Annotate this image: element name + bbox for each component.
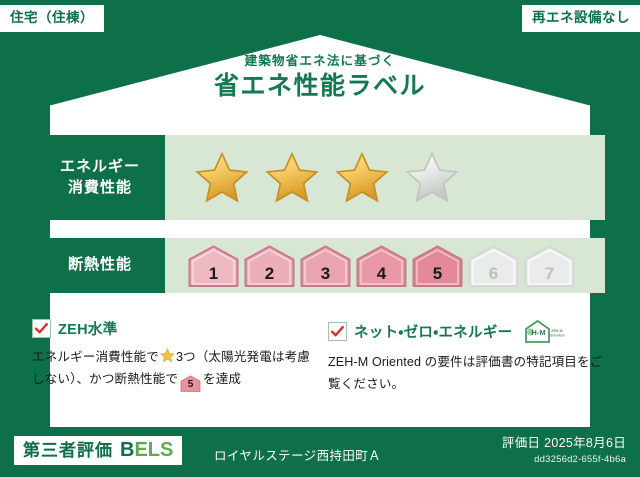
note-zeh-standard: ZEH水準 エネルギー消費性能で3つ（太陽光発電は考慮しない）、かつ断熱性能で5…: [32, 318, 312, 395]
row-insulation-performance: 断熱性能 1234567: [35, 238, 605, 293]
row-insulation-label-line1: 断熱性能: [68, 255, 132, 275]
evaluation-info: 評価日 2025年8月6日 dd3256d2-655f-4b6a: [502, 436, 626, 465]
insulation-grade-inactive: 6: [467, 244, 520, 288]
grade-number: 4: [377, 265, 386, 288]
grade-number: 5: [433, 265, 442, 288]
evaluation-date: 評価日 2025年8月6日: [502, 436, 626, 451]
insulation-grade-active: 1: [187, 244, 240, 288]
insulation-grade-active: 3: [299, 244, 352, 288]
star-empty-icon: [403, 150, 461, 206]
bels-badge-en: BELS: [120, 440, 173, 460]
svg-text:Oriented: Oriented: [550, 334, 565, 338]
inline-grade-chip: 5: [180, 375, 201, 392]
row-energy-label-line2: 消費性能: [68, 178, 132, 198]
inline-star-icon: [160, 348, 175, 363]
insulation-grade-scale: 1234567: [187, 244, 576, 288]
svg-text:ZEH-M: ZEH-M: [552, 329, 563, 333]
bels-badge-en-els: ELS: [134, 439, 173, 461]
star-filled-icon: [333, 150, 391, 206]
row-energy-label-line1: エネルギー: [60, 157, 140, 177]
note-net-zero-energy: ネット・ゼロ・エネルギー H-M ZEH-M Oriented ZEH-M Or…: [328, 318, 608, 395]
tag-renewable-equipment: 再エネ設備なし: [522, 5, 640, 32]
grade-number: 2: [265, 265, 274, 288]
star-rating: [193, 150, 461, 206]
grade-number: 1: [209, 265, 218, 288]
inline-grade-chip-value: 5: [180, 375, 201, 395]
label-title-block: 建築物省エネ法に基づく 省エネ性能ラベル: [0, 55, 640, 99]
checkbox-zeh-standard: [32, 319, 51, 338]
note-nze-body: ZEH-M Oriented の要件は評価書の特記項目をご覧ください。: [328, 351, 608, 395]
notes-section: ZEH水準 エネルギー消費性能で3つ（太陽光発電は考慮しない）、かつ断熱性能で5…: [32, 318, 608, 395]
star-filled-icon: [193, 150, 251, 206]
star-filled-icon: [263, 150, 321, 206]
note-zeh-header: ZEH水準: [32, 318, 312, 339]
note-zeh-body-part2: 3つ（太陽光発電: [176, 350, 272, 364]
insulation-grade-active: 5: [411, 244, 464, 288]
building-name: ロイヤルステージ西持田町Ａ: [214, 445, 381, 464]
row-energy-label: エネルギー 消費性能: [35, 135, 165, 220]
grade-number: 7: [545, 265, 554, 288]
row-insulation-value: 1234567: [165, 238, 605, 293]
note-zeh-body-part4: を達成: [203, 372, 241, 386]
insulation-grade-active: 4: [355, 244, 408, 288]
note-nze-header: ネット・ゼロ・エネルギー H-M ZEH-M Oriented: [328, 318, 608, 344]
note-zeh-body: エネルギー消費性能で3つ（太陽光発電は考慮しない）、かつ断熱性能で5を達成: [32, 346, 312, 392]
note-zeh-body-part1: エネルギー消費性能で: [32, 350, 159, 364]
row-insulation-label: 断熱性能: [35, 238, 165, 293]
label-footer: 第三者評価 BELS ロイヤルステージ西持田町Ａ 評価日 2025年8月6日 d…: [0, 427, 640, 477]
checkbox-net-zero-energy: [328, 322, 347, 341]
bels-badge-en-b: B: [120, 439, 134, 461]
row-energy-performance: エネルギー 消費性能: [35, 135, 605, 220]
bels-badge: 第三者評価 BELS: [14, 436, 182, 465]
note-nze-title: ネット・ゼロ・エネルギー: [354, 321, 512, 342]
svg-text:H-M: H-M: [532, 328, 546, 337]
zeh-m-house-icon: H-M ZEH-M Oriented: [521, 318, 565, 344]
tag-building-type: 住宅（住棟）: [0, 5, 104, 32]
evaluation-id: dd3256d2-655f-4b6a: [502, 454, 626, 465]
grade-number: 3: [321, 265, 330, 288]
row-energy-value: [165, 135, 605, 220]
insulation-grade-active: 2: [243, 244, 296, 288]
note-zeh-title: ZEH水準: [58, 318, 118, 339]
grade-number: 6: [489, 265, 498, 288]
page-title: 省エネ性能ラベル: [0, 74, 640, 99]
insulation-grade-inactive: 7: [523, 244, 576, 288]
title-subtitle: 建築物省エネ法に基づく: [0, 55, 640, 68]
energy-performance-label: 住宅（住棟） 再エネ設備なし 建築物省エネ法に基づく 省エネ性能ラベル エネルギ…: [0, 0, 640, 477]
bels-badge-jp: 第三者評価: [23, 442, 113, 459]
